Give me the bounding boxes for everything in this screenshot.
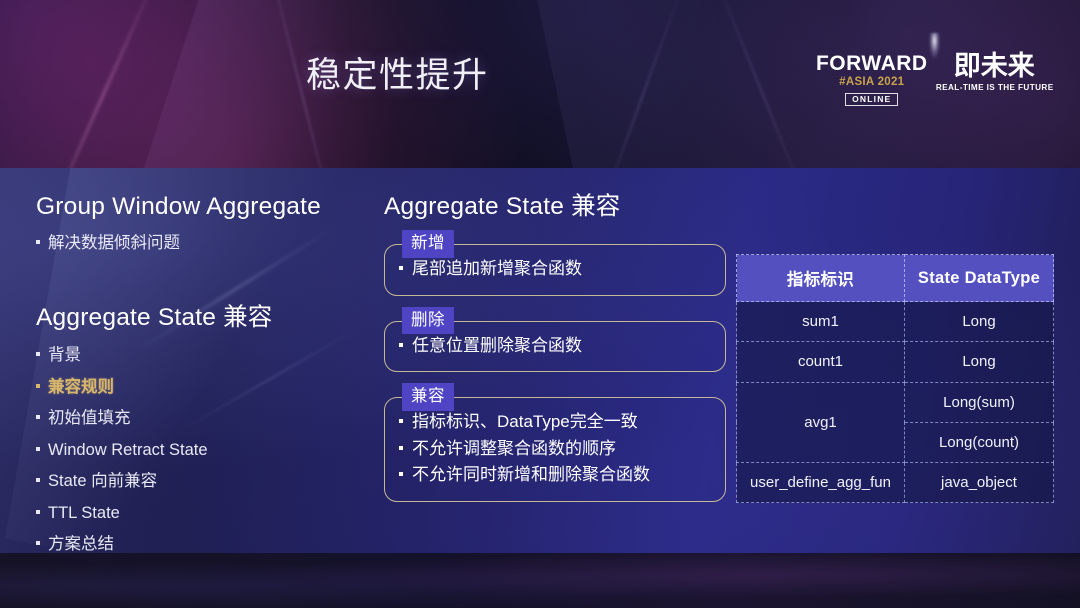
bullet-icon xyxy=(36,447,40,451)
left-heading-1: Group Window Aggregate xyxy=(36,192,366,221)
event-logo: FORWARD #ASIA 2021 ONLINE 即未来 REAL-TIME … xyxy=(816,50,1052,106)
sidebar-item-init-value-fill[interactable]: 初始值填充 xyxy=(36,410,366,427)
table-cell-datatype: java_object xyxy=(905,463,1054,503)
table-cell-metric: sum1 xyxy=(737,302,905,342)
list-item-label: 方案总结 xyxy=(48,536,114,553)
list-item-label: 兼容规则 xyxy=(48,379,114,396)
bullet-icon xyxy=(36,384,40,388)
table-cell-metric: count1 xyxy=(737,342,905,382)
card-bullet-label: 不允许同时新增和删除聚合函数 xyxy=(412,464,650,486)
table-header-row: 指标标识 State DataType xyxy=(737,255,1054,302)
table-cell-metric: user_define_agg_fun xyxy=(737,463,905,503)
table-row: sum1 Long xyxy=(737,302,1054,342)
list-item-label: TTL State xyxy=(48,505,120,522)
card-delete-wrapper: 删除 任意位置删除聚合函数 xyxy=(384,321,726,372)
sidebar-item-plan-summary[interactable]: 方案总结 xyxy=(36,536,366,553)
list-item-label: 解决数据倾斜问题 xyxy=(48,235,180,252)
bullet-icon xyxy=(36,415,40,419)
card-badge-add: 新增 xyxy=(402,230,454,258)
decorative-light-streak xyxy=(596,0,687,168)
slide-header: 稳定性提升 FORWARD #ASIA 2021 ONLINE 即未来 REAL… xyxy=(0,0,1080,168)
bullet-icon xyxy=(36,541,40,545)
card-bullet-label: 指标标识、DataType完全一致 xyxy=(412,411,638,433)
logo-forward-text: FORWARD xyxy=(816,53,928,74)
table-header-datatype: State DataType xyxy=(905,255,1054,302)
table-row: count1 Long xyxy=(737,342,1054,382)
card-bullet: 不允许调整聚合函数的顺序 xyxy=(399,438,711,460)
table-row: avg1 Long(sum) xyxy=(737,382,1054,422)
logo-cn-name: 即未来 xyxy=(954,52,1035,80)
decorative-light-streak xyxy=(34,0,159,168)
table-cell-datatype: Long xyxy=(905,342,1054,382)
list-item-label: 背景 xyxy=(48,347,81,364)
slide-root: 稳定性提升 FORWARD #ASIA 2021 ONLINE 即未来 REAL… xyxy=(0,0,1080,608)
card-bullet: 不允许同时新增和删除聚合函数 xyxy=(399,464,711,486)
list-item[interactable]: 解决数据倾斜问题 xyxy=(36,235,366,252)
sidebar-item-background[interactable]: 背景 xyxy=(36,347,366,364)
sidebar-item-window-retract-state[interactable]: Window Retract State xyxy=(36,442,366,459)
bullet-icon xyxy=(399,419,403,423)
logo-asia-text: #ASIA 2021 xyxy=(839,77,904,89)
middle-heading: Aggregate State 兼容 xyxy=(384,192,726,221)
content-panel: Group Window Aggregate 解决数据倾斜问题 Aggregat… xyxy=(0,168,1080,553)
card-bullet-label: 不允许调整聚合函数的顺序 xyxy=(412,438,616,460)
card-add-wrapper: 新增 尾部追加新增聚合函数 xyxy=(384,244,726,295)
card-compat-wrapper: 兼容 指标标识、DataType完全一致 不允许调整聚合函数的顺序 不允许同时新… xyxy=(384,397,726,501)
card-bullet: 指标标识、DataType完全一致 xyxy=(399,411,711,433)
list-item-label: 初始值填充 xyxy=(48,410,131,427)
card-compat: 指标标识、DataType完全一致 不允许调整聚合函数的顺序 不允许同时新增和删… xyxy=(384,397,726,501)
left-outline-column: Group Window Aggregate 解决数据倾斜问题 Aggregat… xyxy=(36,192,366,553)
logo-cn-block: 即未来 REAL-TIME IS THE FUTURE xyxy=(937,50,1052,92)
slide-footer xyxy=(0,553,1080,608)
logo-tagline: REAL-TIME IS THE FUTURE xyxy=(935,83,1053,92)
state-datatype-table-container: 指标标识 State DataType sum1 Long count1 Lon… xyxy=(736,254,1054,503)
page-title: 稳定性提升 xyxy=(306,47,489,98)
decorative-light-streak xyxy=(708,0,815,168)
logo-forward-block: FORWARD #ASIA 2021 ONLINE xyxy=(816,50,928,106)
middle-column: Aggregate State 兼容 新增 尾部追加新增聚合函数 删除 任意位置… xyxy=(384,192,726,502)
table-row: user_define_agg_fun java_object xyxy=(737,463,1054,503)
bullet-icon xyxy=(36,510,40,514)
table-cell-metric: avg1 xyxy=(737,382,905,463)
sparkle-icon xyxy=(929,33,940,59)
table-header-metric: 指标标识 xyxy=(737,255,905,302)
card-badge-compat: 兼容 xyxy=(402,383,454,411)
sidebar-item-compat-rules[interactable]: 兼容规则 xyxy=(36,379,366,396)
list-item-label: Window Retract State xyxy=(48,442,208,459)
list-item-label: State 向前兼容 xyxy=(48,473,157,490)
card-bullet-label: 尾部追加新增聚合函数 xyxy=(412,258,582,280)
card-bullet: 任意位置删除聚合函数 xyxy=(399,335,711,357)
sidebar-item-state-forward-compat[interactable]: State 向前兼容 xyxy=(36,473,366,490)
bullet-icon xyxy=(36,240,40,244)
bullet-icon xyxy=(399,472,403,476)
card-bullet-label: 任意位置删除聚合函数 xyxy=(412,335,582,357)
logo-online-badge: ONLINE xyxy=(845,93,898,106)
bullet-icon xyxy=(36,478,40,482)
card-badge-delete: 删除 xyxy=(402,307,454,335)
bullet-icon xyxy=(399,266,403,270)
bullet-icon xyxy=(399,343,403,347)
table-cell-datatype: Long(sum) xyxy=(905,382,1054,422)
state-datatype-table: 指标标识 State DataType sum1 Long count1 Lon… xyxy=(736,254,1054,503)
table-cell-datatype: Long(count) xyxy=(905,422,1054,462)
card-bullet: 尾部追加新增聚合函数 xyxy=(399,258,711,280)
table-cell-datatype: Long xyxy=(905,302,1054,342)
bullet-icon xyxy=(399,446,403,450)
sidebar-item-ttl-state[interactable]: TTL State xyxy=(36,505,366,522)
left-heading-2: Aggregate State 兼容 xyxy=(36,303,366,332)
bullet-icon xyxy=(36,352,40,356)
